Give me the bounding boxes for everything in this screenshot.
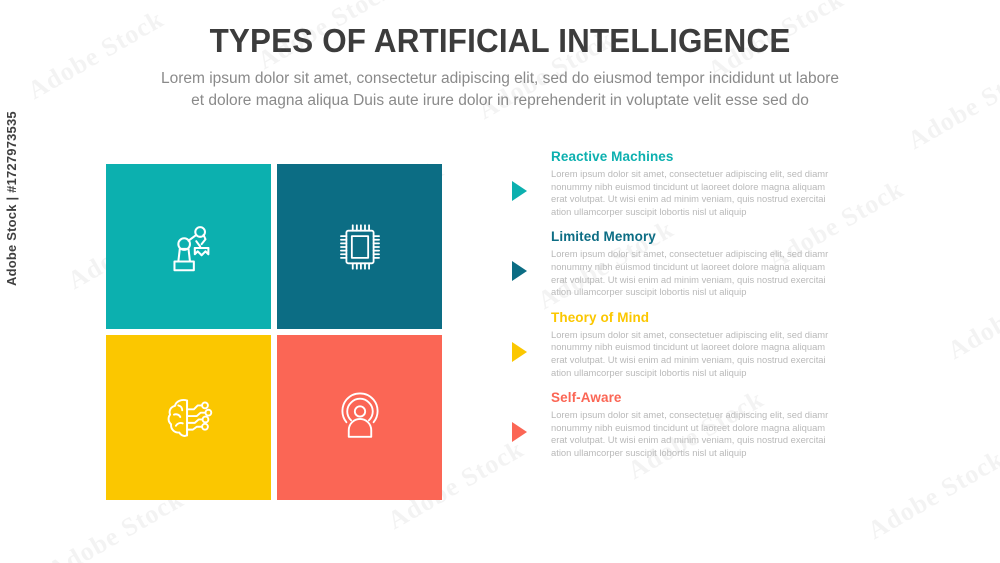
tile-reactive-machines[interactable] <box>106 164 271 329</box>
body-line-1: Lorem ipsum dolor sit amet, consectetuer… <box>551 248 899 261</box>
stock-credit-label: Adobe Stock | #1727973535 <box>4 111 19 286</box>
list-item[interactable]: Theory of Mind Lorem ipsum dolor sit ame… <box>508 309 908 379</box>
list-item-body: Lorem ipsum dolor sit amet, consectetuer… <box>551 409 899 459</box>
subtitle-line-1: Lorem ipsum dolor sit amet, consectetur … <box>60 68 940 90</box>
page-title: TYPES OF ARTIFICIAL INTELLIGENCE <box>25 0 975 61</box>
list-item-title: Limited Memory <box>551 228 908 245</box>
ai-brain-circuit-icon <box>158 387 220 449</box>
page-subtitle: Lorem ipsum dolor sit amet, consectetur … <box>60 61 940 112</box>
robotic-arm-icon <box>158 216 220 278</box>
tile-theory-of-mind[interactable] <box>106 335 271 500</box>
list-item[interactable]: Reactive Machines Lorem ipsum dolor sit … <box>508 148 908 218</box>
page-header: TYPES OF ARTIFICIAL INTELLIGENCE Lorem i… <box>0 0 1000 112</box>
body-line-4: ation ullamcorper suscipit lobortis nisl… <box>551 447 899 460</box>
tile-limited-memory[interactable] <box>277 164 442 329</box>
person-signal-waves-icon <box>330 388 390 448</box>
body-line-1: Lorem ipsum dolor sit amet, consectetuer… <box>551 329 899 342</box>
body-line-4: ation ullamcorper suscipit lobortis nisl… <box>551 367 899 380</box>
list-item-body: Lorem ipsum dolor sit amet, consectetuer… <box>551 248 899 298</box>
body-line-4: ation ullamcorper suscipit lobortis nisl… <box>551 286 899 299</box>
body-line-3: erat volutpat. Ut wisi enim ad minim ven… <box>551 193 899 206</box>
ai-types-list: Reactive Machines Lorem ipsum dolor sit … <box>508 148 908 460</box>
triangle-bullet-icon <box>512 422 527 442</box>
list-item[interactable]: Self-Aware Lorem ipsum dolor sit amet, c… <box>508 389 908 459</box>
list-item-title: Self-Aware <box>551 389 908 406</box>
list-item-title: Theory of Mind <box>551 309 908 326</box>
body-line-4: ation ullamcorper suscipit lobortis nisl… <box>551 206 899 219</box>
icon-grid <box>106 164 442 500</box>
body-line-3: erat volutpat. Ut wisi enim ad minim ven… <box>551 434 899 447</box>
triangle-bullet-icon <box>512 342 527 362</box>
tile-self-aware[interactable] <box>277 335 442 500</box>
body-line-1: Lorem ipsum dolor sit amet, consectetuer… <box>551 168 899 181</box>
list-item-body: Lorem ipsum dolor sit amet, consectetuer… <box>551 168 899 218</box>
list-item[interactable]: Limited Memory Lorem ipsum dolor sit ame… <box>508 228 908 298</box>
body-line-3: erat volutpat. Ut wisi enim ad minim ven… <box>551 354 899 367</box>
triangle-bullet-icon <box>512 181 527 201</box>
body-line-2: nonummy nibh euismod tincidunt ut laoree… <box>551 181 899 194</box>
body-line-1: Lorem ipsum dolor sit amet, consectetuer… <box>551 409 899 422</box>
cpu-chip-icon <box>331 218 389 276</box>
list-item-body: Lorem ipsum dolor sit amet, consectetuer… <box>551 329 899 379</box>
body-line-3: erat volutpat. Ut wisi enim ad minim ven… <box>551 274 899 287</box>
triangle-bullet-icon <box>512 261 527 281</box>
list-item-title: Reactive Machines <box>551 148 908 165</box>
subtitle-line-2: et dolore magna aliqua Duis aute irure d… <box>60 90 940 112</box>
watermark-text: Adobe Stock <box>943 264 1000 366</box>
body-line-2: nonummy nibh euismod tincidunt ut laoree… <box>551 341 899 354</box>
body-line-2: nonummy nibh euismod tincidunt ut laoree… <box>551 261 899 274</box>
body-line-2: nonummy nibh euismod tincidunt ut laoree… <box>551 422 899 435</box>
